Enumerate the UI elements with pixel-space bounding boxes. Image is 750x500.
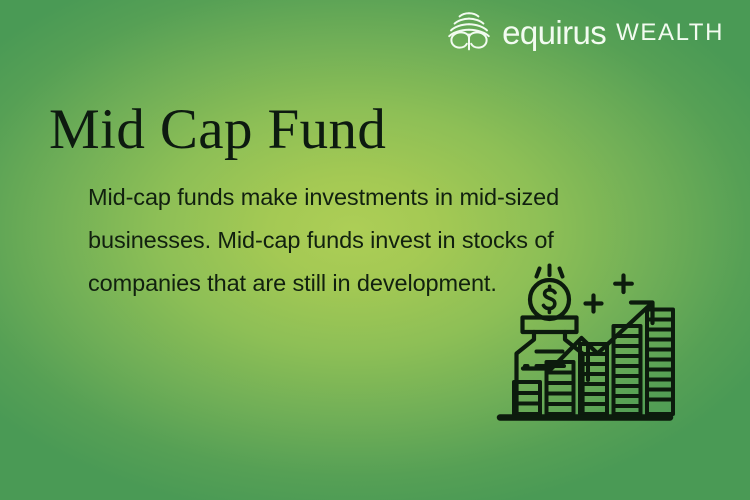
brand-subtitle: WEALTH: [616, 21, 724, 45]
dollar-coin-icon: [530, 280, 569, 319]
plus-sign-icon: [586, 296, 602, 312]
page-title: Mid Cap Fund: [49, 97, 386, 163]
banyan-tree-logo-icon: [446, 10, 492, 52]
sparkle-lines-icon: [537, 266, 563, 277]
brand-lockup: equirus WEALTH: [446, 8, 724, 54]
poster-canvas: equirus WEALTH Mid Cap Fund Mid-cap fund…: [0, 0, 750, 500]
savings-growth-illustration: [492, 255, 677, 440]
plus-sign-icon: [615, 276, 632, 293]
brand-name: equirus: [502, 16, 606, 49]
coin-stack-bars-icon: [514, 310, 673, 415]
